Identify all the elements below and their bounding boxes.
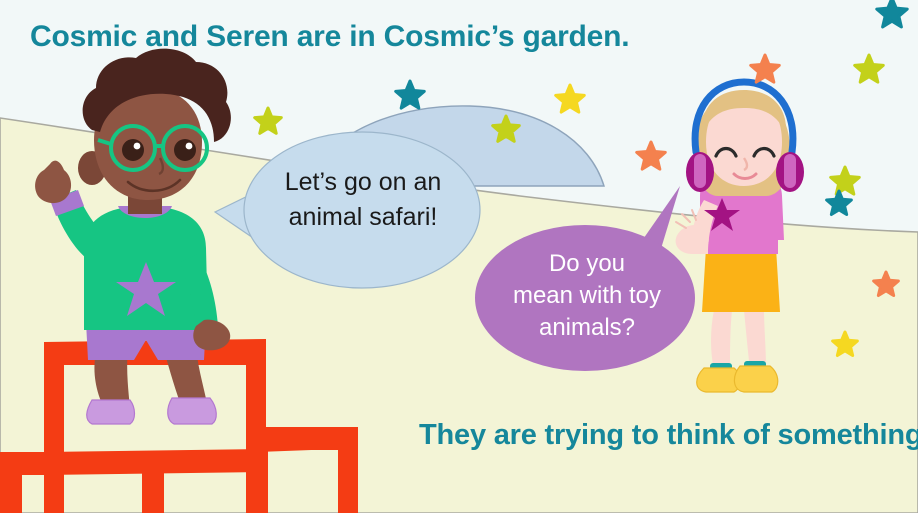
seren-shoe-right	[734, 366, 777, 392]
illustration-scene: Cosmic and Seren are in Cosmic’s garden.…	[0, 0, 918, 513]
seren-leg-left	[711, 310, 732, 370]
cosmic-eye-left	[122, 139, 144, 161]
seren-skirt	[702, 248, 780, 312]
speech-bubble-blue-text: Let’s go on an animal safari!	[255, 165, 471, 234]
speech-bubble-purple-text: Do you mean with toy animals?	[487, 248, 687, 344]
cosmic-eye-right	[174, 139, 196, 161]
page-title: Cosmic and Seren are in Cosmic’s garden.	[30, 20, 629, 54]
page-caption: They are trying to think of something to…	[419, 417, 889, 454]
cosmic-shoe-right	[168, 398, 217, 424]
cosmic-shoe-left	[87, 400, 135, 424]
seren-shoe-left	[697, 368, 740, 392]
